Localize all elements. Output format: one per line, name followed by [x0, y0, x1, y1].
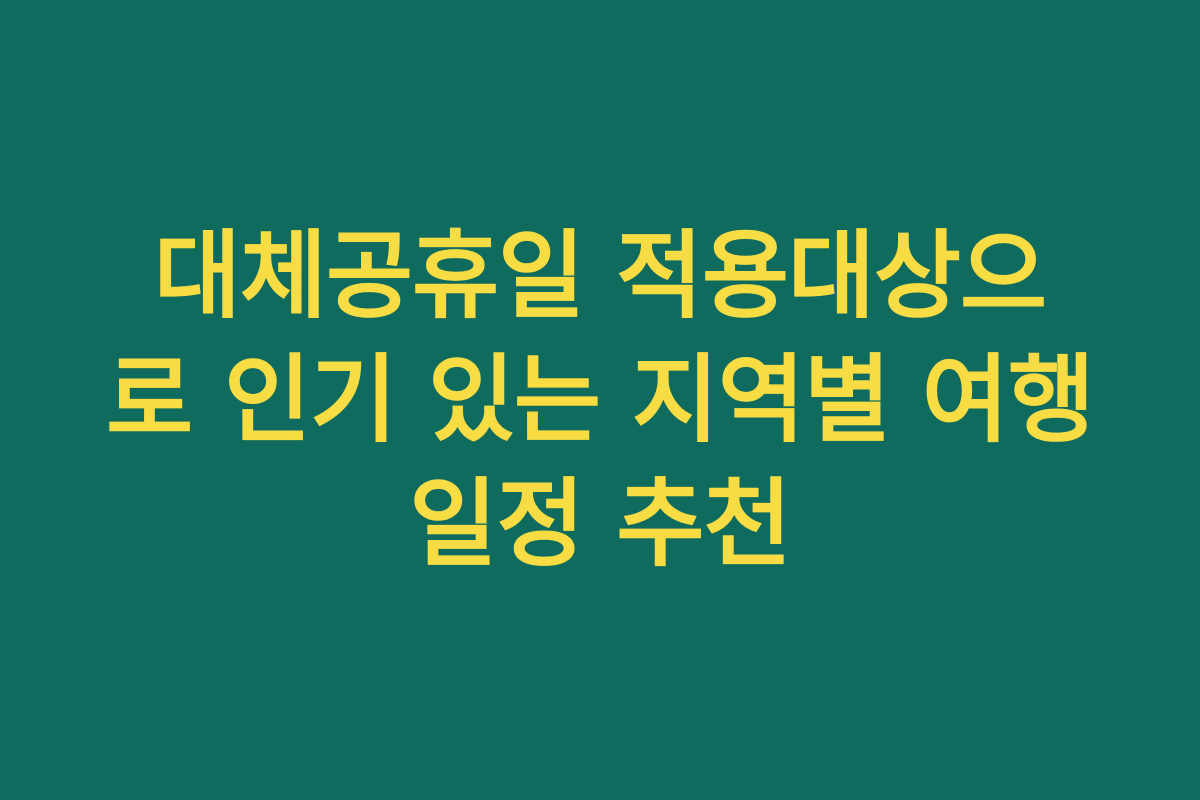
thumbnail-card: 대체공휴일 적용대상으 로 인기 있는 지역별 여행 일정 추천: [0, 0, 1200, 800]
title-line-2: 로 인기 있는 지역별 여행: [68, 338, 1132, 462]
title-line-1: 대체공휴일 적용대상으: [68, 214, 1132, 338]
title-line-3: 일정 추천: [60, 462, 1140, 586]
title-block: 대체공휴일 적용대상으 로 인기 있는 지역별 여행 일정 추천: [40, 214, 1160, 586]
